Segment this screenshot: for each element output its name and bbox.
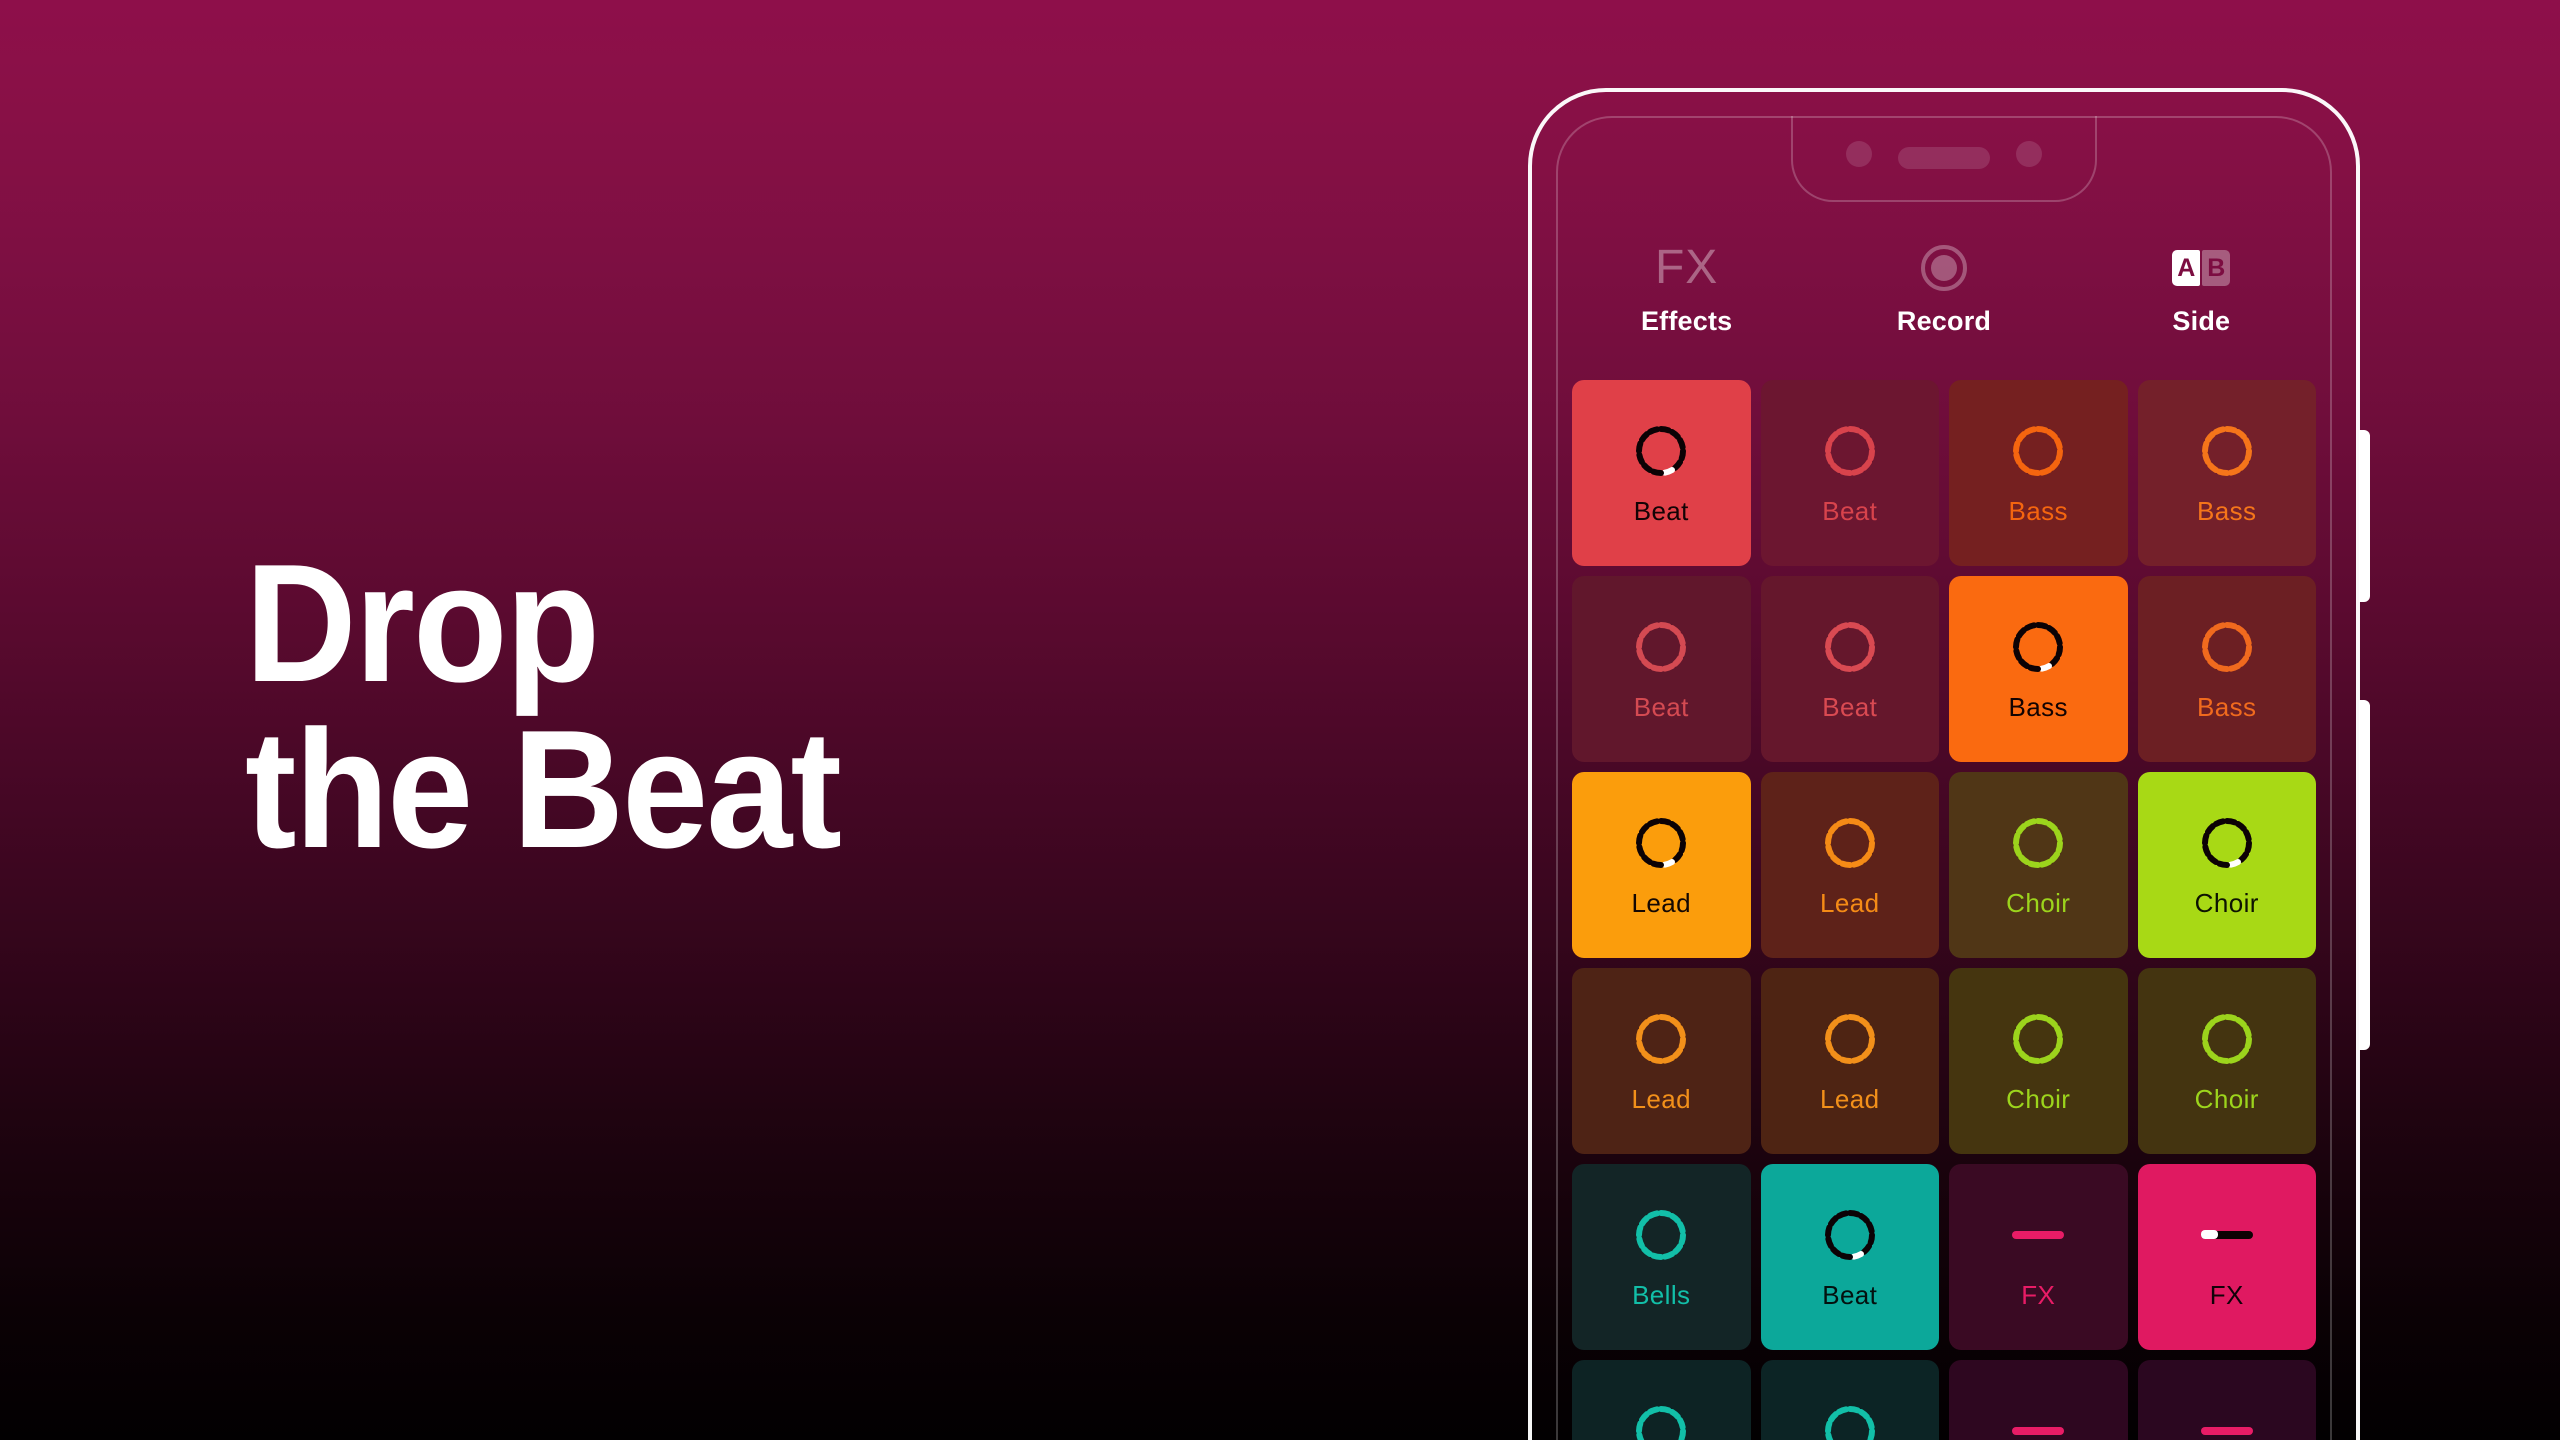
phone-mockup: FX Effects Record A [1528, 88, 2360, 1440]
headline-line-1: Drop [245, 540, 1073, 706]
promo-stage: Drop the Beat FX Effects [0, 0, 2560, 1440]
phone-screen-outline [1556, 116, 2332, 1440]
power-button[interactable] [2359, 700, 2370, 1050]
headline-line-2: the Beat [245, 706, 1073, 872]
volume-button[interactable] [2359, 430, 2370, 602]
page-title: Drop the Beat [245, 540, 1145, 873]
